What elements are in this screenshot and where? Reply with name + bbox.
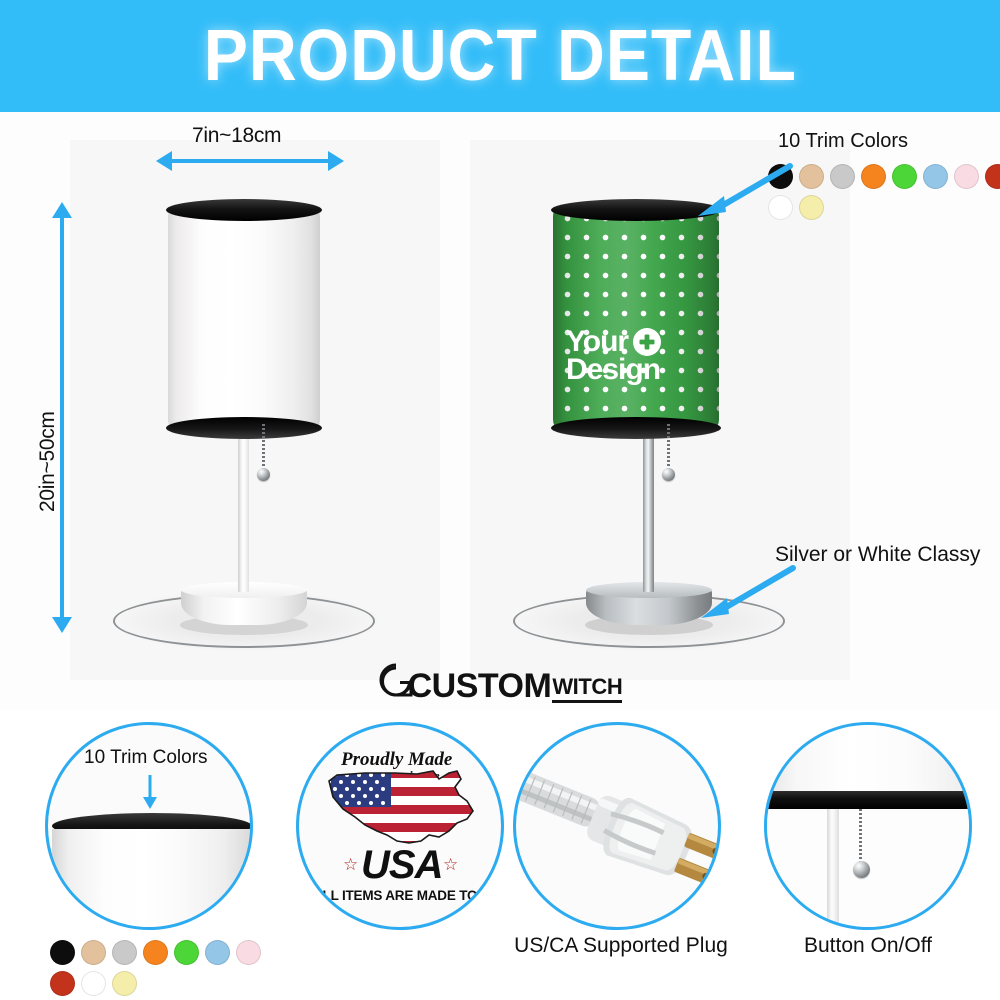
swatch-tan[interactable] [799, 164, 824, 189]
feature-row: 10 Trim Colors Proudly Made in the [0, 712, 1000, 1000]
page-title: PRODUCT DETAIL [203, 15, 796, 97]
feature-circle-trim-colors: 10 Trim Colors [45, 722, 253, 930]
swatch-bottom-tan[interactable] [81, 940, 106, 965]
feature-switch-chain [859, 809, 862, 865]
lampshade-left-trim-bottom [166, 417, 322, 439]
lampshade-right-shading [553, 207, 719, 429]
pull-chain-left [262, 424, 265, 472]
pull-chain-ball-right [662, 468, 675, 481]
swatch-bottom-black[interactable] [50, 940, 75, 965]
lamp-white [0, 112, 440, 672]
design-placeholder-text: Your Design [553, 327, 719, 385]
swatch-pink[interactable] [954, 164, 979, 189]
logo-sub-text: WITCH [552, 676, 622, 698]
brand-logo: CUSTOM WITCH [0, 662, 1000, 703]
base-finish-label: Silver or White Classy [775, 543, 980, 567]
feature-caption-switch: Button On/Off [764, 934, 972, 958]
header-banner: PRODUCT DETAIL [0, 0, 1000, 112]
feature-trim-shade [52, 829, 252, 930]
design-text-line2: Design [566, 355, 719, 386]
lampshade-right-surface [553, 207, 719, 429]
pull-chain-right [667, 424, 670, 472]
swatch-pale-yellow[interactable] [799, 195, 824, 220]
lampshade-right-trim-bottom [551, 417, 721, 439]
swatch-bottom-pale-yellow[interactable] [112, 971, 137, 996]
lampshade-right: Your Design [553, 207, 719, 429]
trim-colors-swatch-grid-top[interactable] [768, 164, 1000, 220]
swatch-dark-red[interactable] [985, 164, 1000, 189]
logo-main-text: CUSTOM [408, 669, 552, 703]
swatch-bottom-dark-red[interactable] [50, 971, 75, 996]
down-arrow-icon [140, 773, 160, 818]
swatch-bottom-white[interactable] [81, 971, 106, 996]
feature-switch-chain-ball [853, 861, 870, 878]
swatch-bottom-orange[interactable] [143, 940, 168, 965]
lampshade-left-trim-top [166, 199, 322, 221]
feature-trim-colors-label: 10 Trim Colors [84, 747, 208, 769]
trim-colors-swatch-grid-bottom[interactable] [50, 940, 290, 996]
usa-footer-text: ALL ITEMS ARE MADE TO ORDER! [313, 888, 504, 903]
usa-word: USA [361, 843, 442, 888]
us-two-prong-plug-icon [513, 739, 721, 924]
feature-circle-switch [764, 722, 972, 930]
logo-underline [552, 700, 622, 703]
lamp-pole-right [643, 412, 654, 592]
lampshade-left [168, 207, 320, 429]
base-finish-arrow [693, 562, 803, 629]
feature-switch-shade [767, 725, 972, 799]
usa-star-right: ☆ [443, 855, 458, 875]
feature-circle-made-in-usa: Proudly Made in the [296, 722, 504, 930]
swatch-green[interactable] [892, 164, 917, 189]
swatch-bottom-light-blue[interactable] [205, 940, 230, 965]
swatch-light-gray[interactable] [830, 164, 855, 189]
feature-circle-plug [513, 722, 721, 930]
feature-switch-trim [764, 791, 972, 809]
swatch-bottom-pink[interactable] [236, 940, 261, 965]
swatch-bottom-green[interactable] [174, 940, 199, 965]
logo-sub-wrap: WITCH [552, 676, 622, 703]
usa-star-left: ☆ [343, 855, 358, 875]
trim-callout-arrow-top [690, 160, 800, 227]
trim-colors-label-top: 10 Trim Colors [778, 130, 908, 153]
usa-badge: Proudly Made in the [299, 725, 501, 927]
product-stage: 7in~18cm 20in~50cm [0, 112, 1000, 710]
pull-chain-ball-left [257, 468, 270, 481]
lampshade-left-surface [168, 207, 320, 429]
feature-switch-pole [827, 809, 839, 930]
lamp-pole-left [238, 412, 249, 592]
swatch-light-blue[interactable] [923, 164, 948, 189]
feature-caption-plug: US/CA Supported Plug [496, 934, 746, 958]
swatch-bottom-light-gray[interactable] [112, 940, 137, 965]
swatch-orange[interactable] [861, 164, 886, 189]
